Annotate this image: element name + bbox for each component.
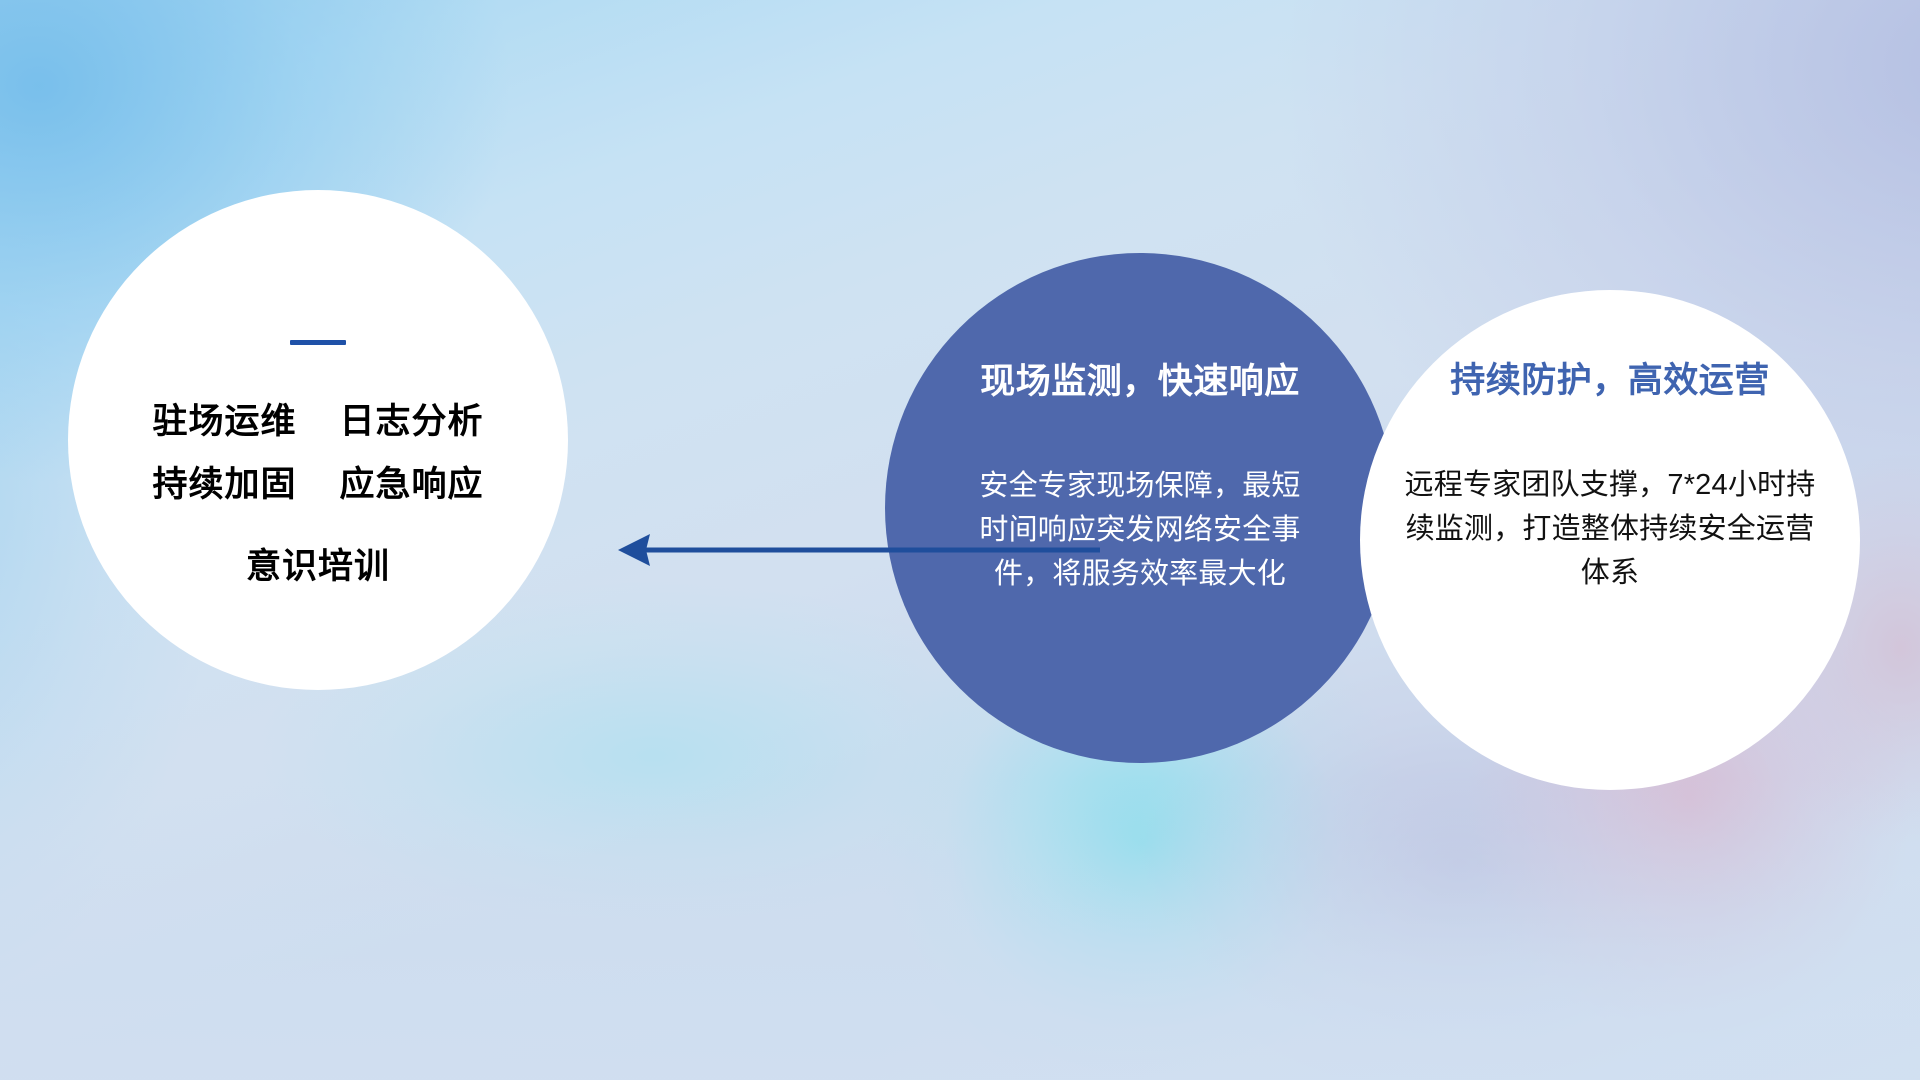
middle-circle-body: 安全专家现场保障，最短时间响应突发网络安全事件，将服务效率最大化 bbox=[975, 464, 1305, 596]
left-circle-service-list: 驻场运维 日志分析 持续加固 应急响应 意识培训 bbox=[153, 403, 484, 587]
right-circle-body: 远程专家团队支撑，7*24小时持续监测，打造整体持续安全运营体系 bbox=[1400, 463, 1820, 595]
left-circle-line-2: 持续加固 应急响应 bbox=[153, 466, 484, 505]
left-circle-line-3: 意识培训 bbox=[246, 548, 390, 587]
right-circle-content: 持续防护，高效运营 远程专家团队支撑，7*24小时持续监测，打造整体持续安全运营… bbox=[1360, 290, 1860, 790]
left-circle-line-1: 驻场运维 日志分析 bbox=[153, 403, 484, 442]
right-circle-title: 持续防护，高效运营 bbox=[1450, 352, 1770, 403]
left-circle-content: 驻场运维 日志分析 持续加固 应急响应 意识培训 bbox=[68, 190, 568, 690]
slide-canvas: 驻场运维 日志分析 持续加固 应急响应 意识培训 现场监测，快速响应 安全专家现… bbox=[0, 0, 1920, 1080]
middle-circle-content: 现场监测，快速响应 安全专家现场保障，最短时间响应突发网络安全事件，将服务效率最… bbox=[885, 253, 1395, 763]
middle-circle-title: 现场监测，快速响应 bbox=[980, 353, 1300, 404]
divider-dash-icon bbox=[290, 340, 346, 345]
